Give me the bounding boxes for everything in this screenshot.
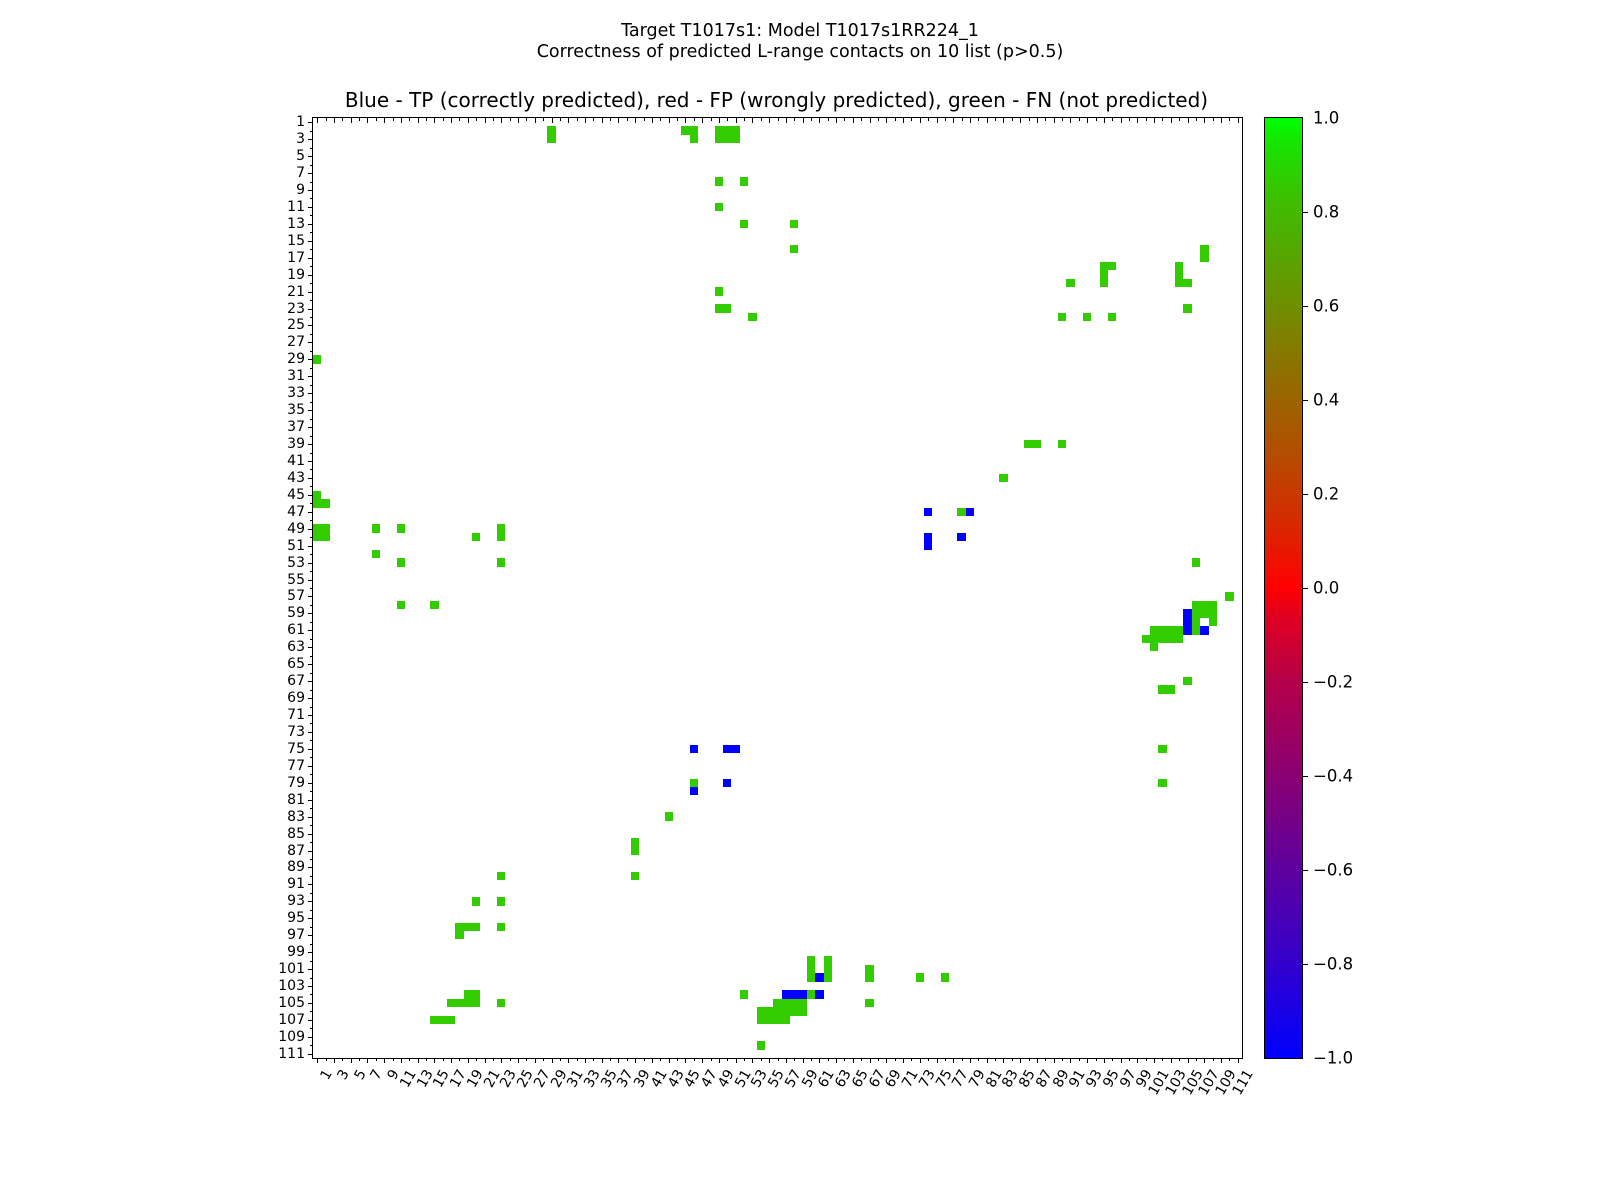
contact-cell (1142, 635, 1184, 643)
x-minor-tick-mark (644, 1058, 645, 1061)
x-minor-tick-mark (1179, 1058, 1180, 1061)
x-tick-mark (351, 1058, 352, 1063)
x-tick-mark-top (1171, 118, 1172, 123)
y-tick-label: 79 (287, 775, 305, 791)
contact-cell (1158, 685, 1175, 693)
x-tick-mark (1087, 1058, 1088, 1063)
y-tick-mark (308, 512, 313, 513)
y-tick-label: 37 (287, 419, 305, 435)
y-tick-mark (308, 461, 313, 462)
x-minor-tick-mark (1162, 1058, 1163, 1061)
x-minor-tick-mark (610, 1058, 611, 1061)
contact-cell (782, 990, 807, 998)
x-tick-mark (367, 1058, 368, 1063)
contact-cell (1175, 262, 1183, 279)
y-minor-tick-mark (310, 215, 313, 216)
x-minor-tick-mark (1029, 1058, 1030, 1061)
x-minor-tick-mark-top (794, 118, 795, 121)
y-minor-tick-mark (310, 571, 313, 572)
y-minor-tick-mark (310, 944, 313, 945)
x-minor-tick-mark (342, 1058, 343, 1061)
x-minor-tick-mark (393, 1058, 394, 1061)
x-minor-tick-mark (945, 1058, 946, 1061)
x-tick-mark-top (1121, 118, 1122, 123)
x-tick-mark-top (434, 118, 435, 123)
y-tick-label: 111 (278, 1046, 305, 1062)
y-tick-mark (308, 783, 313, 784)
x-tick-mark (317, 1058, 318, 1063)
y-minor-tick-mark (310, 605, 313, 606)
x-tick-mark (1137, 1058, 1138, 1063)
y-tick-label: 33 (287, 385, 305, 401)
x-minor-tick-mark (409, 1058, 410, 1061)
x-tick-mark (1054, 1058, 1055, 1063)
contact-cell (1100, 270, 1108, 287)
x-tick-mark-top (317, 118, 318, 123)
y-tick-label: 75 (287, 741, 305, 757)
colorbar-tick-mark (1302, 400, 1308, 401)
contact-cell (715, 126, 740, 143)
y-tick-mark (308, 732, 313, 733)
y-minor-tick-mark (310, 757, 313, 758)
y-tick-mark (308, 613, 313, 614)
x-minor-tick-mark-top (476, 118, 477, 121)
colorbar-tick-mark (1302, 494, 1308, 495)
y-minor-tick-mark (310, 334, 313, 335)
y-tick-mark (308, 342, 313, 343)
y-minor-tick-mark (310, 283, 313, 284)
y-minor-tick-mark (310, 385, 313, 386)
contact-cell (430, 601, 438, 609)
x-minor-tick-mark-top (1146, 118, 1147, 121)
y-minor-tick-mark (310, 774, 313, 775)
x-minor-tick-mark-top (426, 118, 427, 121)
colorbar: 1.00.80.60.40.20.0−0.2−0.4−0.6−0.8−1.0 (1264, 117, 1303, 1059)
x-tick-mark (970, 1058, 971, 1063)
colorbar-tick-label: 0.8 (1313, 203, 1339, 222)
x-tick-mark (1188, 1058, 1189, 1063)
y-tick-mark (308, 275, 313, 276)
x-minor-tick-mark (459, 1058, 460, 1061)
x-tick-mark (836, 1058, 837, 1063)
contact-cell (497, 999, 505, 1007)
contact-cell (455, 931, 463, 939)
x-tick-mark-top (1221, 118, 1222, 123)
contact-cell (397, 601, 405, 609)
y-tick-mark (308, 427, 313, 428)
colorbar-tick-label: −0.6 (1313, 861, 1353, 880)
x-minor-tick-mark (794, 1058, 795, 1061)
x-tick-mark (334, 1058, 335, 1063)
y-tick-mark (308, 867, 313, 868)
contact-cell (1192, 609, 1209, 617)
y-tick-label: 67 (287, 673, 305, 689)
contact-cell (824, 956, 832, 981)
x-minor-tick-mark-top (928, 118, 929, 121)
y-tick-label: 45 (287, 487, 305, 503)
x-minor-tick-mark (627, 1058, 628, 1061)
x-minor-tick-mark-top (962, 118, 963, 121)
x-tick-mark (920, 1058, 921, 1063)
y-tick-mark (308, 292, 313, 293)
contact-cell (715, 287, 723, 295)
x-minor-tick-mark-top (393, 118, 394, 121)
colorbar-tick-label: 0.4 (1313, 391, 1339, 410)
x-tick-mark (568, 1058, 569, 1063)
x-tick-mark (451, 1058, 452, 1063)
contact-cell (715, 203, 723, 211)
contact-cell (723, 779, 731, 787)
y-tick-label: 81 (287, 792, 305, 808)
x-minor-tick-mark (577, 1058, 578, 1061)
y-minor-tick-mark (310, 165, 313, 166)
contact-cell (631, 838, 639, 855)
x-tick-mark-top (1204, 118, 1205, 123)
contact-cell (740, 990, 748, 998)
x-tick-mark (669, 1058, 670, 1063)
x-tick-mark-top (1154, 118, 1155, 123)
x-minor-tick-mark (543, 1058, 544, 1061)
contact-cell (807, 990, 815, 998)
x-tick-mark-top (351, 118, 352, 123)
contact-cell (1083, 313, 1091, 321)
contact-cell (1024, 440, 1041, 448)
x-minor-tick-mark-top (610, 118, 611, 121)
y-tick-mark (308, 698, 313, 699)
x-tick-mark (552, 1058, 553, 1063)
y-tick-mark (308, 901, 313, 902)
x-tick-mark (752, 1058, 753, 1063)
y-tick-mark (308, 817, 313, 818)
y-minor-tick-mark (310, 791, 313, 792)
x-tick-mark (719, 1058, 720, 1063)
x-minor-tick-mark-top (326, 118, 327, 121)
y-tick-label: 99 (287, 944, 305, 960)
contact-cell (1108, 313, 1116, 321)
x-tick-mark (518, 1058, 519, 1063)
x-minor-tick-mark (778, 1058, 779, 1061)
y-tick-mark (308, 851, 313, 852)
x-tick-mark-top (1003, 118, 1004, 123)
y-minor-tick-mark (310, 351, 313, 352)
x-minor-tick-mark-top (1079, 118, 1080, 121)
x-tick-mark-top (1104, 118, 1105, 123)
y-tick-mark (308, 596, 313, 597)
x-tick-mark (702, 1058, 703, 1063)
colorbar-tick-label: −0.2 (1313, 673, 1353, 692)
contact-cell (631, 872, 639, 880)
contact-cell (497, 872, 505, 880)
y-tick-mark (308, 359, 313, 360)
contact-cell (1225, 592, 1233, 600)
x-minor-tick-mark (861, 1058, 862, 1061)
x-minor-tick-mark-top (978, 118, 979, 121)
x-tick-mark (853, 1058, 854, 1063)
contact-cell (690, 779, 698, 787)
y-tick-label: 85 (287, 826, 305, 842)
x-tick-mark-top (803, 118, 804, 123)
y-tick-label: 83 (287, 809, 305, 825)
y-tick-label: 35 (287, 402, 305, 418)
colorbar-tick-mark (1302, 776, 1308, 777)
y-tick-mark (308, 884, 313, 885)
x-minor-tick-mark (493, 1058, 494, 1061)
y-tick-mark (308, 715, 313, 716)
y-minor-tick-mark (310, 1045, 313, 1046)
y-tick-label: 55 (287, 572, 305, 588)
y-minor-tick-mark (310, 368, 313, 369)
y-minor-tick-mark (310, 859, 313, 860)
contact-cell (790, 220, 798, 228)
contact-map-plot-area[interactable]: 1357911131517192123252729313335373941434… (312, 117, 1243, 1059)
x-minor-tick-mark (1146, 1058, 1147, 1061)
x-tick-mark (1003, 1058, 1004, 1063)
x-tick-mark (535, 1058, 536, 1063)
contact-cell (757, 1007, 807, 1015)
x-tick-mark-top (384, 118, 385, 123)
y-tick-mark (308, 122, 313, 123)
x-minor-tick-mark (711, 1058, 712, 1061)
x-minor-tick-mark (1129, 1058, 1130, 1061)
y-minor-tick-mark (310, 639, 313, 640)
y-tick-label: 7 (296, 165, 305, 181)
colorbar-tick-label: 1.0 (1313, 109, 1339, 128)
x-minor-tick-mark (895, 1058, 896, 1061)
x-tick-mark-top (970, 118, 971, 123)
y-tick-label: 59 (287, 605, 305, 621)
x-minor-tick-mark (844, 1058, 845, 1061)
contact-cell (547, 126, 555, 143)
x-tick-mark (1121, 1058, 1122, 1063)
contact-cell (1183, 677, 1191, 685)
x-tick-mark-top (1070, 118, 1071, 123)
contact-cell (1158, 779, 1166, 787)
x-minor-tick-mark-top (911, 118, 912, 121)
x-tick-label: 3 (334, 1067, 352, 1083)
figure-suptitle-line2: Correctness of predicted L-range contact… (0, 41, 1600, 64)
y-minor-tick-mark (310, 419, 313, 420)
y-tick-mark (308, 1003, 313, 1004)
contact-map-figure: Target T1017s1: Model T1017s1RR224_1 Cor… (0, 0, 1600, 1200)
x-tick-mark (819, 1058, 820, 1063)
x-minor-tick-mark-top (1062, 118, 1063, 121)
x-tick-mark (803, 1058, 804, 1063)
x-tick-mark-top (1137, 118, 1138, 123)
y-tick-mark (308, 563, 313, 564)
y-tick-label: 25 (287, 317, 305, 333)
x-tick-mark-top (652, 118, 653, 123)
y-minor-tick-mark (310, 436, 313, 437)
contact-cell (397, 524, 405, 532)
x-tick-mark (1238, 1058, 1239, 1063)
x-tick-mark-top (903, 118, 904, 123)
x-tick-mark-top (685, 118, 686, 123)
x-minor-tick-mark-top (811, 118, 812, 121)
y-tick-label: 63 (287, 639, 305, 655)
x-tick-label: 7 (368, 1067, 386, 1083)
contact-cell (690, 135, 698, 143)
x-minor-tick-mark-top (895, 118, 896, 121)
y-minor-tick-mark (310, 961, 313, 962)
contact-cell (472, 897, 480, 905)
x-tick-mark-top (886, 118, 887, 123)
x-tick-mark-top (1020, 118, 1021, 123)
x-minor-tick-mark (1012, 1058, 1013, 1061)
y-minor-tick-mark (310, 978, 313, 979)
x-tick-mark (585, 1058, 586, 1063)
x-tick-mark (434, 1058, 435, 1063)
y-tick-mark (308, 647, 313, 648)
y-tick-label: 73 (287, 724, 305, 740)
y-tick-mark (308, 834, 313, 835)
y-minor-tick-mark (310, 808, 313, 809)
contact-cell (372, 550, 380, 558)
y-tick-label: 1 (296, 114, 305, 130)
x-tick-mark-top (618, 118, 619, 123)
contact-cell (690, 787, 698, 795)
y-minor-tick-mark (310, 656, 313, 657)
y-tick-label: 21 (287, 284, 305, 300)
y-minor-tick-mark (310, 893, 313, 894)
y-tick-label: 43 (287, 470, 305, 486)
contact-cell (999, 474, 1007, 482)
x-minor-tick-mark-top (711, 118, 712, 121)
y-tick-label: 5 (296, 148, 305, 164)
y-tick-label: 93 (287, 893, 305, 909)
x-tick-mark-top (853, 118, 854, 123)
x-tick-mark (485, 1058, 486, 1063)
contact-cell (313, 499, 330, 507)
y-minor-tick-mark (310, 876, 313, 877)
x-minor-tick-mark-top (627, 118, 628, 121)
x-minor-tick-mark-top (1179, 118, 1180, 121)
contact-cells-layer (313, 118, 1242, 1058)
y-tick-mark (308, 1020, 313, 1021)
x-minor-tick-mark (962, 1058, 963, 1061)
y-minor-tick-mark (310, 520, 313, 521)
y-tick-label: 51 (287, 538, 305, 554)
y-tick-label: 9 (296, 182, 305, 198)
x-minor-tick-mark (761, 1058, 762, 1061)
colorbar-tick-label: −0.8 (1313, 955, 1353, 974)
x-tick-mark (1154, 1058, 1155, 1063)
x-minor-tick-mark (744, 1058, 745, 1061)
contact-cell (397, 558, 405, 566)
x-minor-tick-mark-top (1045, 118, 1046, 121)
x-tick-mark-top (786, 118, 787, 123)
x-tick-mark (736, 1058, 737, 1063)
x-minor-tick-mark-top (376, 118, 377, 121)
x-tick-mark (786, 1058, 787, 1063)
y-minor-tick-mark (310, 198, 313, 199)
x-minor-tick-mark-top (861, 118, 862, 121)
y-tick-mark (308, 207, 313, 208)
contact-cell (924, 508, 932, 516)
x-minor-tick-mark-top (844, 118, 845, 121)
y-tick-mark (308, 190, 313, 191)
x-minor-tick-mark (1062, 1058, 1063, 1061)
y-tick-label: 107 (278, 1012, 305, 1028)
y-minor-tick-mark (310, 266, 313, 267)
x-minor-tick-mark (727, 1058, 728, 1061)
x-tick-mark-top (602, 118, 603, 123)
x-minor-tick-mark-top (644, 118, 645, 121)
y-tick-label: 101 (278, 961, 305, 977)
y-tick-label: 61 (287, 622, 305, 638)
y-minor-tick-mark (310, 1011, 313, 1012)
x-minor-tick-mark-top (359, 118, 360, 121)
x-minor-tick-mark-top (878, 118, 879, 121)
x-tick-mark (602, 1058, 603, 1063)
x-tick-mark-top (719, 118, 720, 123)
x-tick-mark (618, 1058, 619, 1063)
y-tick-mark (308, 969, 313, 970)
x-minor-tick-mark-top (543, 118, 544, 121)
colorbar-tick-label: −0.4 (1313, 767, 1353, 786)
x-minor-tick-mark-top (995, 118, 996, 121)
contact-cell (1058, 440, 1066, 448)
colorbar-tick-label: 0.6 (1313, 297, 1339, 316)
x-minor-tick-mark (828, 1058, 829, 1061)
y-tick-label: 29 (287, 351, 305, 367)
y-minor-tick-mark (310, 554, 313, 555)
x-tick-mark-top (953, 118, 954, 123)
y-minor-tick-mark (310, 740, 313, 741)
y-tick-mark (308, 224, 313, 225)
contact-cell (1192, 601, 1209, 609)
y-tick-mark (308, 495, 313, 496)
x-minor-tick-mark (911, 1058, 912, 1061)
contact-cell (757, 1041, 765, 1049)
x-tick-mark-top (535, 118, 536, 123)
contact-cell (740, 177, 748, 185)
x-minor-tick-mark (1096, 1058, 1097, 1061)
contact-cell (1158, 745, 1166, 753)
x-tick-mark-top (752, 118, 753, 123)
y-tick-mark (308, 529, 313, 530)
x-minor-tick-mark-top (660, 118, 661, 121)
plot-legend-title: Blue - TP (correctly predicted), red - F… (312, 88, 1241, 112)
contact-cell (807, 956, 815, 973)
x-minor-tick-mark-top (510, 118, 511, 121)
y-tick-label: 95 (287, 910, 305, 926)
y-tick-label: 17 (287, 250, 305, 266)
y-tick-mark (308, 800, 313, 801)
contact-cell (1150, 643, 1158, 651)
contact-cell (1200, 245, 1208, 262)
x-tick-mark (384, 1058, 385, 1063)
y-minor-tick-mark (310, 182, 313, 183)
y-tick-label: 13 (287, 216, 305, 232)
x-minor-tick-mark (1229, 1058, 1230, 1061)
contact-cell (941, 973, 949, 981)
contact-cell (1192, 626, 1200, 634)
x-minor-tick-mark-top (560, 118, 561, 121)
contact-cell (957, 533, 965, 541)
y-tick-mark (308, 410, 313, 411)
x-tick-mark-top (485, 118, 486, 123)
x-minor-tick-mark (443, 1058, 444, 1061)
x-tick-mark-top (769, 118, 770, 123)
x-tick-mark-top (836, 118, 837, 123)
x-tick-mark (886, 1058, 887, 1063)
y-tick-mark (308, 376, 313, 377)
y-minor-tick-mark (310, 469, 313, 470)
x-minor-tick-mark-top (526, 118, 527, 121)
y-minor-tick-mark (310, 825, 313, 826)
y-tick-label: 91 (287, 876, 305, 892)
contact-cell (723, 745, 740, 753)
